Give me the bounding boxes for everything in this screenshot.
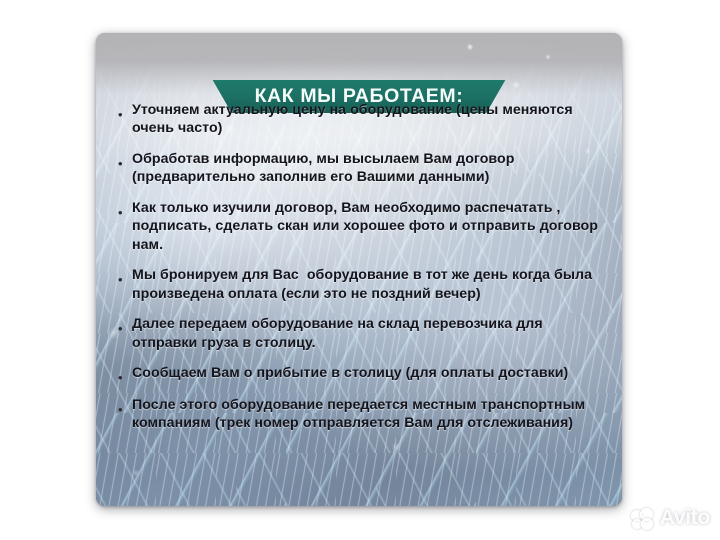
- avito-watermark: Avito: [631, 507, 710, 528]
- list-item: • Уточняем актуальную цену на оборудован…: [118, 101, 604, 138]
- list-item-text: Мы бронируем для Вас оборудование в тот …: [132, 266, 604, 303]
- avito-logo-icon: [631, 508, 655, 528]
- list-item: • Как только изучили договор, Вам необхо…: [118, 199, 604, 254]
- list-item-text: Как только изучили договор, Вам необходи…: [132, 199, 604, 254]
- list-item: • Обработав информацию, мы высылаем Вам …: [118, 150, 604, 187]
- bullet-point-icon: •: [118, 364, 132, 384]
- slide-card: КАК МЫ РАБОТАЕМ: • Уточняем актуальную ц…: [96, 33, 622, 506]
- list-item-text: После этого оборудование передается мест…: [132, 396, 604, 433]
- bullet-point-icon: •: [118, 396, 132, 416]
- list-item-text: Сообщаем Вам о прибытие в столицу (для о…: [132, 364, 604, 382]
- bullet-point-icon: •: [118, 101, 132, 121]
- page-canvas: КАК МЫ РАБОТАЕМ: • Уточняем актуальную ц…: [0, 0, 720, 540]
- bullet-point-icon: •: [118, 315, 132, 335]
- list-item: • После этого оборудование передается ме…: [118, 396, 604, 433]
- list-item-text: Уточняем актуальную цену на оборудование…: [132, 101, 604, 138]
- list-item: • Сообщаем Вам о прибытие в столицу (для…: [118, 364, 604, 384]
- bullet-point-icon: •: [118, 266, 132, 286]
- list-item: • Далее передаем оборудование на склад п…: [118, 315, 604, 352]
- list-item-text: Обработав информацию, мы высылаем Вам до…: [132, 150, 604, 187]
- list-item: • Мы бронируем для Вас оборудование в то…: [118, 266, 604, 303]
- bullet-point-icon: •: [118, 199, 132, 219]
- avito-watermark-label: Avito: [660, 507, 710, 528]
- list-item-text: Далее передаем оборудование на склад пер…: [132, 315, 604, 352]
- steps-list: • Уточняем актуальную цену на оборудован…: [118, 101, 604, 433]
- bullet-point-icon: •: [118, 150, 132, 170]
